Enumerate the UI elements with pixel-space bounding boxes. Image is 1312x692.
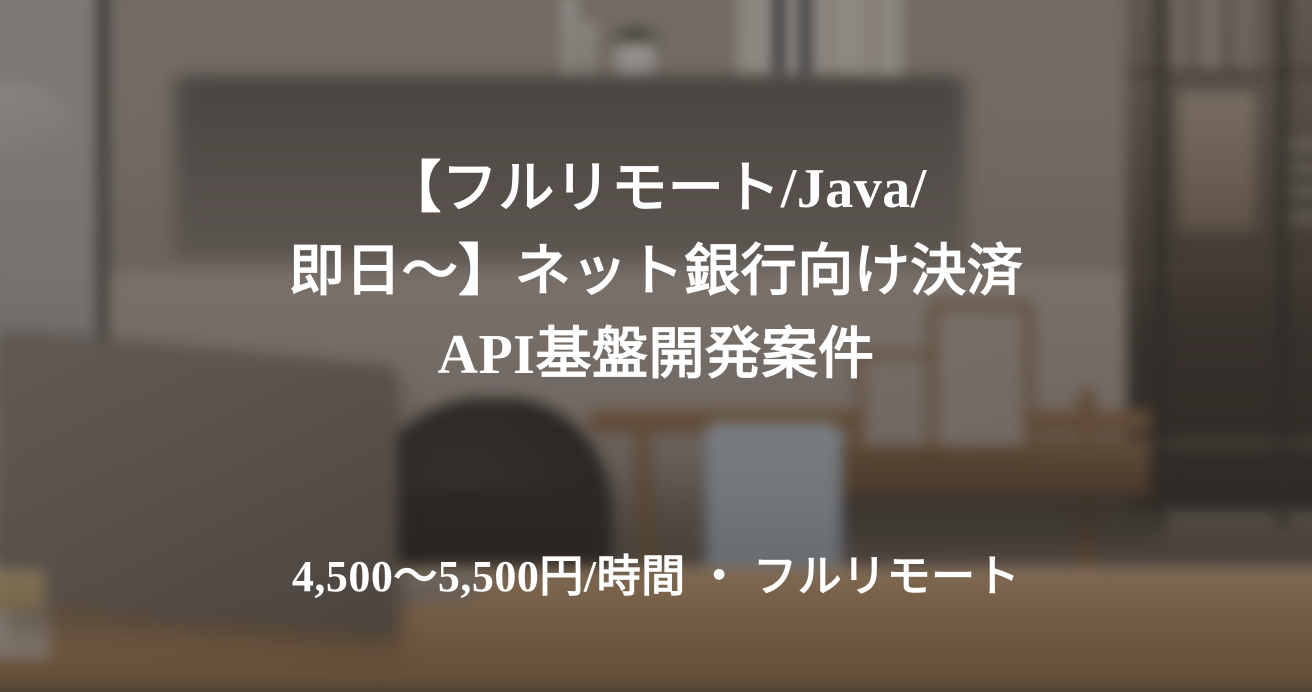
banner-content: 【フルリモート/Java/即日〜】ネット銀行向け決済API基盤開発案件 4,50… <box>0 0 1312 692</box>
job-banner: 【フルリモート/Java/即日〜】ネット銀行向け決済API基盤開発案件 4,50… <box>0 0 1312 692</box>
page-title: 【フルリモート/Java/即日〜】ネット銀行向け決済API基盤開発案件 <box>0 148 1312 397</box>
title-line-1: 【フルリモート/Java/ <box>385 158 927 220</box>
title-line-3: API基盤開発案件 <box>438 324 875 386</box>
banner-subtitle: 4,500〜5,500円/時間 ・ フルリモート <box>0 548 1312 605</box>
title-line-2: 即日〜】ネット銀行向け決済 <box>289 241 1024 303</box>
